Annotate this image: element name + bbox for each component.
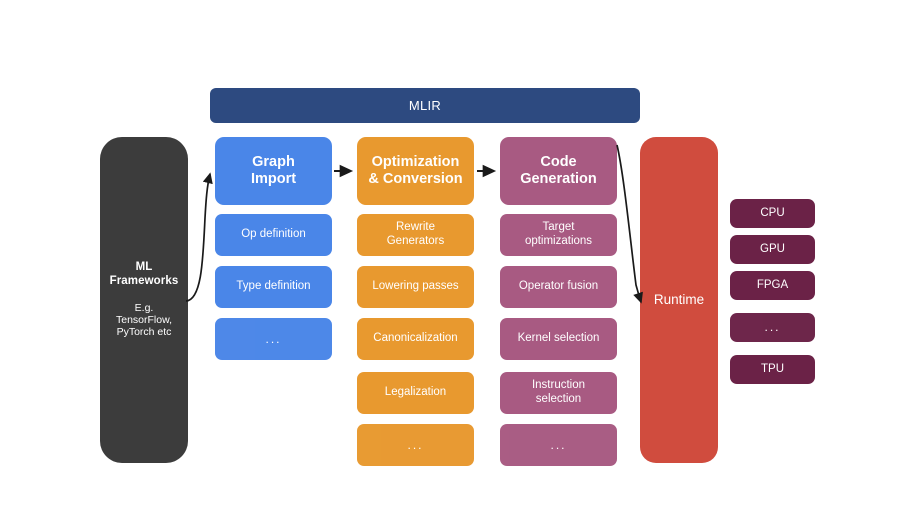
codegen-item-target-optimizations[interactable]: Target optimizations — [500, 214, 617, 256]
graph-import-item-type-definition[interactable]: Type definition — [215, 266, 332, 308]
runtime-block[interactable]: Runtime — [640, 137, 718, 463]
codegen-item-instruction-selection[interactable]: Instruction selection — [500, 372, 617, 414]
column-head-code-generation[interactable]: Code Generation — [500, 137, 617, 205]
graph-import-item-op-definition[interactable]: Op definition — [215, 214, 332, 256]
hardware-target-tpu[interactable]: TPU — [730, 355, 815, 384]
column-head-graph-import[interactable]: Graph Import — [215, 137, 332, 205]
column-head-optimization-conversion[interactable]: Optimization & Conversion — [357, 137, 474, 205]
mlir-banner[interactable]: MLIR — [210, 88, 640, 123]
optimization-item-lowering-passes[interactable]: Lowering passes — [357, 266, 474, 308]
hardware-target-fpga[interactable]: FPGA — [730, 271, 815, 300]
graph-import-item-ellipsis[interactable]: ... — [215, 318, 332, 360]
arrow-frameworks-to-graph-import — [186, 174, 210, 301]
hardware-target-gpu[interactable]: GPU — [730, 235, 815, 264]
optimization-item-legalization[interactable]: Legalization — [357, 372, 474, 414]
ml-frameworks-title: ML Frameworks — [110, 261, 179, 288]
hardware-target-ellipsis[interactable]: ... — [730, 313, 815, 342]
optimization-item-ellipsis[interactable]: ... — [357, 424, 474, 466]
ml-frameworks-subtitle: E.g. TensorFlow, PyTorch etc — [116, 302, 172, 339]
hardware-target-cpu[interactable]: CPU — [730, 199, 815, 228]
optimization-item-rewrite-generators[interactable]: Rewrite Generators — [357, 214, 474, 256]
arrow-codegen-to-runtime — [617, 145, 641, 302]
optimization-item-canonicalization[interactable]: Canonicalization — [357, 318, 474, 360]
diagram-canvas: ML Frameworks E.g. TensorFlow, PyTorch e… — [0, 0, 900, 505]
ml-frameworks-block[interactable]: ML Frameworks E.g. TensorFlow, PyTorch e… — [100, 137, 188, 463]
codegen-item-operator-fusion[interactable]: Operator fusion — [500, 266, 617, 308]
codegen-item-ellipsis[interactable]: ... — [500, 424, 617, 466]
codegen-item-kernel-selection[interactable]: Kernel selection — [500, 318, 617, 360]
